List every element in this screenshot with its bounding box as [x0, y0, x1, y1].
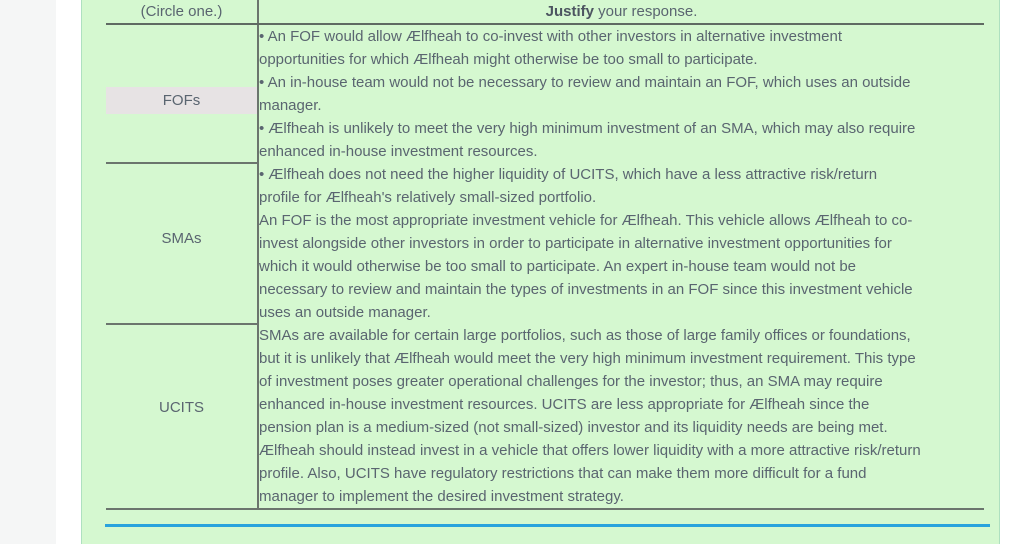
line: of investment poses greater operational …	[259, 370, 984, 393]
line: invest alongside other investors in orde…	[259, 232, 984, 255]
category-label-fofs[interactable]: FOFs	[106, 87, 257, 114]
line: • Ælfheah is unlikely to meet the very h…	[259, 117, 984, 140]
line: manager to implement the desired investm…	[259, 485, 984, 508]
line: opportunities for which Ælfheah might ot…	[259, 48, 984, 71]
line: enhanced in-house investment resources.	[259, 140, 984, 163]
line: An FOF is the most appropriate investmen…	[259, 209, 984, 232]
justification-cell-smas: • Ælfheah does not need the higher liqui…	[258, 163, 984, 324]
line: Ælfheah should instead invest in a vehic…	[259, 439, 984, 462]
line: but it is unlikely that Ælfheah would me…	[259, 347, 984, 370]
line: • An in-house team would not be necessar…	[259, 71, 984, 94]
line: • An FOF would allow Ælfheah to co-inves…	[259, 25, 984, 48]
page-root: (Circle one.) Justify your response. FOF…	[0, 0, 1024, 544]
document-content-area: (Circle one.) Justify your response. FOF…	[81, 0, 1000, 544]
line: profile. Also, UCITS have regulatory res…	[259, 462, 984, 485]
blue-divider-rule	[105, 524, 990, 527]
header-justify-strong: Justify	[546, 3, 594, 20]
line: profile for Ælfheah's relatively small-s…	[259, 186, 984, 209]
category-cell-fofs: FOFs	[106, 24, 258, 163]
header-justify-rest: your response.	[594, 3, 697, 20]
justification-cell-ucits: SMAs are available for certain large por…	[258, 324, 984, 509]
line: enhanced in-house investment resources. …	[259, 393, 984, 416]
justification-cell-fofs: • An FOF would allow Ælfheah to co-inves…	[258, 24, 984, 163]
header-circle-one: (Circle one.)	[106, 0, 258, 24]
left-gutter-strip	[0, 0, 56, 544]
table-row: SMAs • Ælfheah does not need the higher …	[106, 163, 984, 324]
line: manager.	[259, 94, 984, 117]
header-justify: Justify your response.	[258, 0, 984, 24]
line: necessary to review and maintain the typ…	[259, 278, 984, 301]
table-header-row: (Circle one.) Justify your response.	[106, 0, 984, 24]
line: uses an outside manager.	[259, 301, 984, 324]
table-row: UCITS SMAs are available for certain lar…	[106, 324, 984, 509]
line: pension plan is a medium-sized (not smal…	[259, 416, 984, 439]
category-label-ucits[interactable]: UCITS	[157, 395, 206, 420]
line: SMAs are available for certain large por…	[259, 324, 984, 347]
answer-table: (Circle one.) Justify your response. FOF…	[106, 0, 984, 510]
category-label-smas[interactable]: SMAs	[159, 226, 203, 251]
category-cell-smas: SMAs	[106, 163, 258, 324]
category-cell-ucits: UCITS	[106, 324, 258, 509]
line: • Ælfheah does not need the higher liqui…	[259, 163, 984, 186]
table-row: FOFs • An FOF would allow Ælfheah to co-…	[106, 24, 984, 163]
line: which it would otherwise be too small to…	[259, 255, 984, 278]
